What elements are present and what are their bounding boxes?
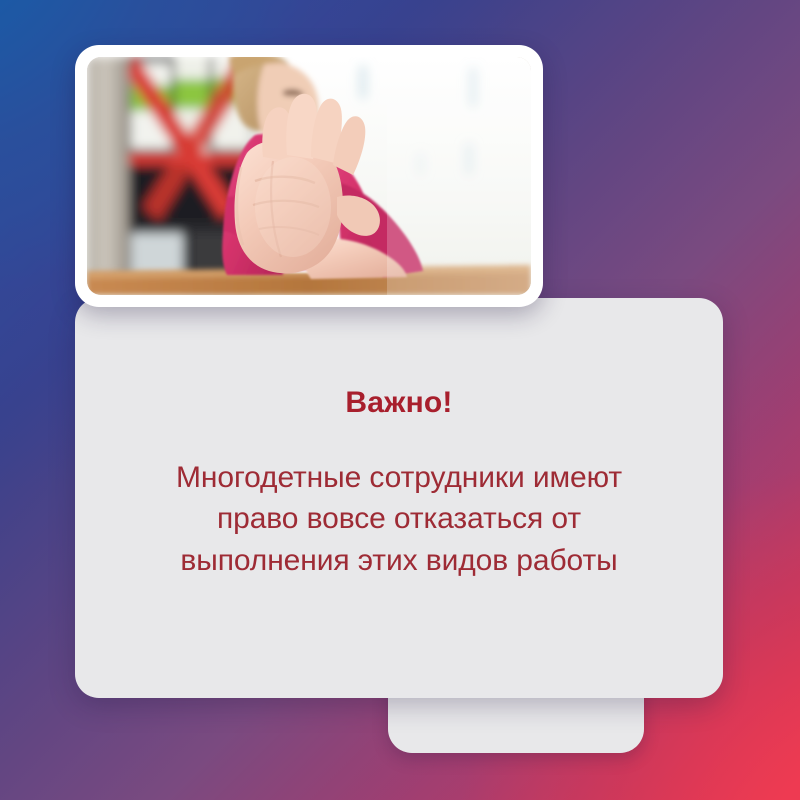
photo-card xyxy=(75,45,543,307)
body-line-3: выполнения этих видов работы xyxy=(99,540,699,581)
body-text: Многодетные сотрудники имеют право вовсе… xyxy=(99,457,699,581)
body-line-1: Многодетные сотрудники имеют xyxy=(99,457,699,498)
headline: Важно! xyxy=(99,386,699,419)
photo-frame xyxy=(87,57,531,295)
poster-canvas: Важно! Многодетные сотрудники имеют прав… xyxy=(0,0,800,800)
text-block: Важно! Многодетные сотрудники имеют прав… xyxy=(75,330,723,581)
body-line-2: право вовсе отказаться от xyxy=(99,498,699,539)
stop-gesture-photo xyxy=(87,57,531,295)
